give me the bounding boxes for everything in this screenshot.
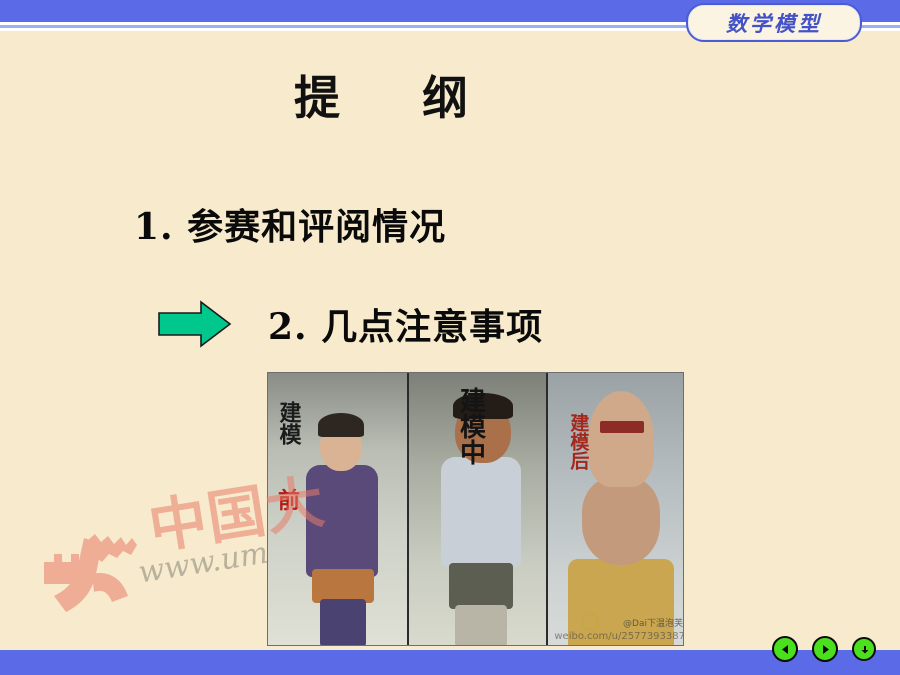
meme-photo: 建模 前 建模中 建模后 @Dai下温泡芙 weibo.com/u/257739…	[267, 372, 684, 646]
slide-canvas: 数学模型 提 纲 1. 参赛和评阅情况 2. 几点注意事项 建模 前 建模中	[0, 0, 900, 675]
figure-pants	[449, 563, 513, 609]
meme-panel-before: 建模 前	[268, 373, 407, 645]
meme-caption-1: 建模	[276, 401, 298, 445]
weibo-logo-icon	[581, 613, 599, 631]
figure-body	[306, 465, 378, 577]
meme-caption-1-accent: 前	[278, 491, 300, 513]
meme-panel-after: 建模后 @Dai下温泡芙 weibo.com/u/2577393387	[546, 373, 684, 645]
figure-skirt	[312, 569, 374, 603]
next-slide-button[interactable]	[812, 636, 838, 662]
figure-body	[441, 457, 521, 567]
figure-hair	[318, 413, 364, 437]
right-arrow-icon	[157, 299, 232, 349]
course-badge: 数学模型	[686, 3, 862, 42]
meme-panel-during: 建模中	[407, 373, 548, 645]
figure-legs	[320, 599, 366, 645]
meme-caption-3: 建模后	[568, 413, 587, 470]
watermark-url-text: www.um	[136, 536, 271, 591]
figure-head	[588, 391, 654, 487]
weibo-handle: @Dai下温泡芙	[623, 616, 683, 629]
return-slide-button[interactable]	[852, 637, 876, 661]
bottom-band	[0, 650, 900, 675]
page-title: 提 纲	[0, 62, 780, 128]
figure-face	[582, 477, 660, 565]
slide-nav	[772, 636, 876, 662]
weibo-url: weibo.com/u/2577393387	[554, 631, 684, 642]
figure-legs	[455, 605, 507, 645]
figure-headband	[600, 421, 644, 433]
meme-caption-2: 建模中	[457, 387, 484, 465]
outline-item-2: 2. 几点注意事项	[268, 298, 543, 350]
great-wall-logo-icon	[40, 504, 150, 614]
prev-slide-button[interactable]	[772, 636, 798, 662]
outline-item-1: 1. 参赛和评阅情况	[134, 198, 446, 250]
course-badge-label: 数学模型	[726, 8, 822, 38]
